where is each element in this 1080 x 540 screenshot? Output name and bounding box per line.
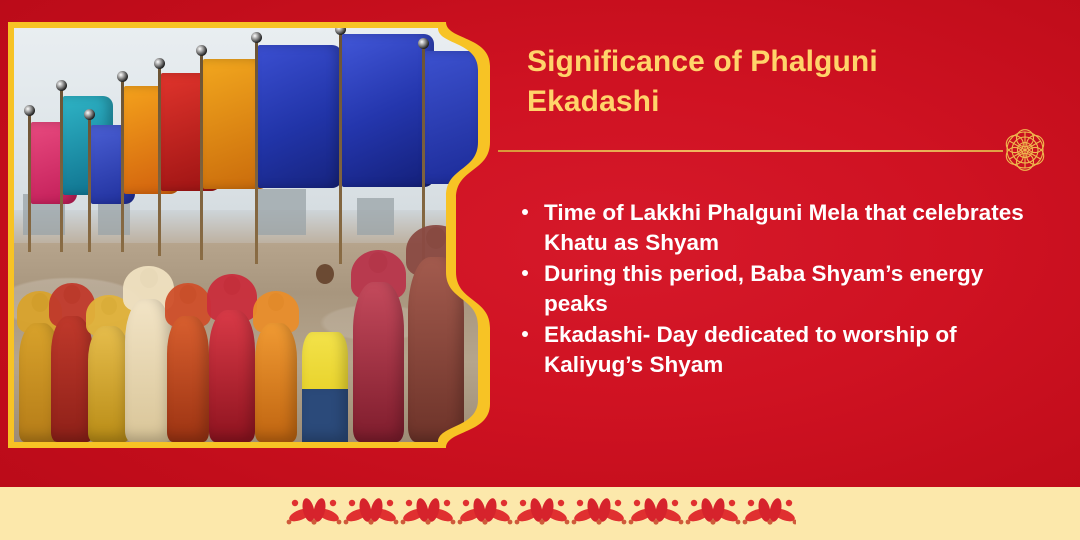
list-item: Time of Lakkhi Phalguni Mela that celebr… bbox=[516, 198, 1028, 258]
list-item-text: Time of Lakkhi Phalguni Mela that celebr… bbox=[544, 200, 1024, 255]
bullet-dot-icon bbox=[522, 209, 528, 215]
photo-image bbox=[14, 28, 478, 442]
page-title: Significance of Phalguni Ekadashi bbox=[527, 42, 957, 122]
bullet-dot-icon bbox=[522, 331, 528, 337]
list-item-text: Ekadashi- Day dedicated to worship of Ka… bbox=[544, 322, 957, 377]
bullet-list: Time of Lakkhi Phalguni Mela that celebr… bbox=[516, 198, 1028, 381]
footer-band bbox=[0, 487, 1080, 540]
title-divider bbox=[498, 150, 1003, 152]
lotus-border-pattern-icon bbox=[286, 493, 796, 533]
slide-root: Significance of Phalguni Ekadashi bbox=[0, 0, 1080, 540]
list-item: Ekadashi- Day dedicated to worship of Ka… bbox=[516, 320, 1028, 380]
list-item-text: During this period, Baba Shyam’s energy … bbox=[544, 261, 983, 316]
mandala-rosette-icon bbox=[998, 123, 1052, 177]
list-item: During this period, Baba Shyam’s energy … bbox=[516, 259, 1028, 319]
bullet-dot-icon bbox=[522, 270, 528, 276]
